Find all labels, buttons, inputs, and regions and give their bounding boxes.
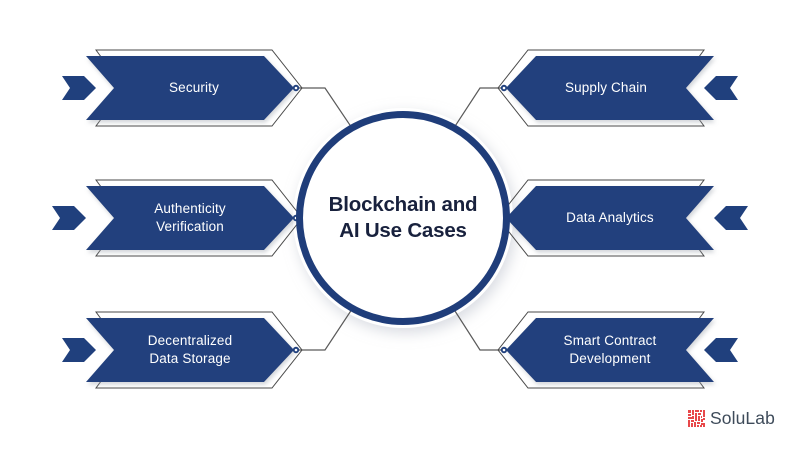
node-authenticity-verification-body[interactable] xyxy=(86,186,294,250)
node-decentralized-data-storage[interactable] xyxy=(62,312,302,388)
node-smart-contract-development-connector-dot-core xyxy=(503,349,506,352)
node-supply-chain-connector-dot-core xyxy=(503,87,506,90)
node-supply-chain-ribbon xyxy=(704,76,738,100)
node-decentralized-data-storage-body[interactable] xyxy=(86,318,294,382)
node-authenticity-verification[interactable] xyxy=(52,180,302,256)
node-authenticity-verification-ribbon xyxy=(52,206,86,230)
node-decentralized-data-storage-ribbon xyxy=(62,338,96,362)
node-security-body[interactable] xyxy=(86,56,294,120)
solulab-logo-mark xyxy=(688,410,705,427)
node-smart-contract-development-ribbon xyxy=(704,338,738,362)
solulab-logo-text: SoluLab xyxy=(710,410,775,428)
node-security[interactable] xyxy=(62,50,302,126)
solulab-logo: SoluLab xyxy=(688,410,775,428)
node-security-connector-dot-core xyxy=(295,87,298,90)
node-data-analytics[interactable] xyxy=(498,180,748,256)
node-decentralized-data-storage-connector-dot-core xyxy=(295,349,298,352)
node-supply-chain-body[interactable] xyxy=(506,56,714,120)
node-supply-chain[interactable] xyxy=(498,50,738,126)
node-smart-contract-development[interactable] xyxy=(498,312,738,388)
node-security-ribbon xyxy=(62,76,96,100)
diagram-canvas: Security Authenticity Verification Decen… xyxy=(0,0,800,450)
node-smart-contract-development-body[interactable] xyxy=(506,318,714,382)
node-data-analytics-body[interactable] xyxy=(506,186,714,250)
node-data-analytics-ribbon xyxy=(714,206,748,230)
center-title: Blockchain and AI Use Cases xyxy=(303,178,503,258)
